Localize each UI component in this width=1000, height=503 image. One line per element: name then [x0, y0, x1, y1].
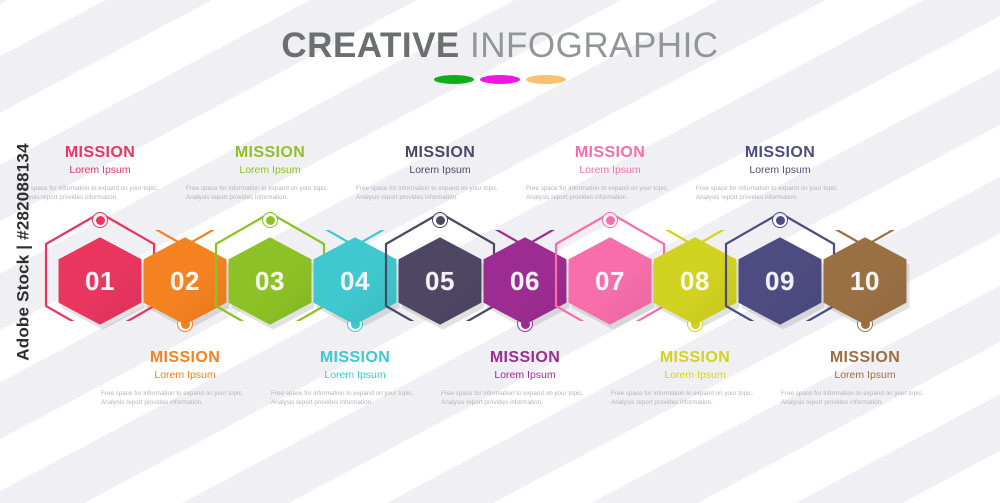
- step-connector-dot: [262, 212, 278, 228]
- title-light: INFOGRAPHIC: [470, 26, 719, 65]
- mission-description-line-2: Analysis report provides information.: [271, 399, 439, 408]
- dot-tan: [526, 75, 566, 84]
- mission-block-03: MISSIONLorem IpsumFree space for informa…: [186, 143, 354, 202]
- mission-title: MISSION: [186, 143, 354, 162]
- mission-description-line-1: Free space for information to expand on …: [271, 390, 439, 399]
- mission-title: MISSION: [526, 143, 694, 162]
- mission-description: Free space for information to expand on …: [611, 390, 779, 407]
- mission-title: MISSION: [781, 348, 949, 367]
- mission-subtitle: Lorem Ipsum: [356, 163, 524, 178]
- hexagon-number-label: 08: [680, 266, 710, 297]
- title-decoration-dots: [0, 75, 1000, 84]
- mission-subtitle: Lorem Ipsum: [186, 163, 354, 178]
- hexagon-number-label: 02: [170, 266, 200, 297]
- mission-block-08: MISSIONLorem IpsumFree space for informa…: [611, 348, 779, 407]
- step-connector-dot-core: [96, 216, 105, 225]
- title-line: CREATIVE INFOGRAPHIC: [0, 26, 1000, 66]
- mission-block-05: MISSIONLorem IpsumFree space for informa…: [356, 143, 524, 202]
- step-connector-dot: [772, 212, 788, 228]
- mission-block-07: MISSIONLorem IpsumFree space for informa…: [526, 143, 694, 202]
- hexagon-number-label: 04: [340, 266, 370, 297]
- hexagon-number-label: 01: [85, 266, 115, 297]
- mission-title: MISSION: [356, 143, 524, 162]
- step-connector-dot-core: [776, 216, 785, 225]
- hexagon-number-label: 07: [595, 266, 625, 297]
- mission-subtitle: Lorem Ipsum: [101, 368, 269, 383]
- mission-subtitle: Lorem Ipsum: [781, 368, 949, 383]
- mission-description-line-1: Free space for information to expand on …: [101, 390, 269, 399]
- hexagon-number-label: 03: [255, 266, 285, 297]
- mission-description-line-1: Free space for information to expand on …: [781, 390, 949, 399]
- mission-description-line-2: Analysis report provides information.: [696, 194, 864, 203]
- mission-description: Free space for information to expand on …: [186, 185, 354, 202]
- mission-title: MISSION: [101, 348, 269, 367]
- mission-description: Free space for information to expand on …: [696, 185, 864, 202]
- mission-description-line-2: Analysis report provides information.: [611, 399, 779, 408]
- mission-description: Free space for information to expand on …: [356, 185, 524, 202]
- mission-block-09: MISSIONLorem IpsumFree space for informa…: [696, 143, 864, 202]
- mission-description-line-1: Free space for information to expand on …: [696, 185, 864, 194]
- mission-description-line-1: Free space for information to expand on …: [611, 390, 779, 399]
- mission-subtitle: Lorem Ipsum: [271, 368, 439, 383]
- hexagon-number-label: 10: [850, 266, 880, 297]
- title-strong: CREATIVE: [281, 26, 459, 65]
- adobe-stock-watermark: Adobe Stock | #282088134: [4, 0, 44, 503]
- mission-description-line-2: Analysis report provides information.: [356, 194, 524, 203]
- mission-block-04: MISSIONLorem IpsumFree space for informa…: [271, 348, 439, 407]
- mission-subtitle: Lorem Ipsum: [526, 163, 694, 178]
- step-connector-dot-core: [266, 216, 275, 225]
- step-connector-dot: [92, 212, 108, 228]
- hexagon-step-row: 01 02 03 04 05 06 07 08: [55, 203, 955, 348]
- mission-description: Free space for information to expand on …: [271, 390, 439, 407]
- step-connector-dot-core: [436, 216, 445, 225]
- mission-description-line-2: Analysis report provides information.: [526, 194, 694, 203]
- adobe-stock-watermark-label: Adobe Stock | #282088134: [14, 143, 34, 360]
- mission-title: MISSION: [271, 348, 439, 367]
- mission-title: MISSION: [441, 348, 609, 367]
- mission-description-line-2: Analysis report provides information.: [441, 399, 609, 408]
- mission-description: Free space for information to expand on …: [526, 185, 694, 202]
- mission-description: Free space for information to expand on …: [101, 390, 269, 407]
- hexagon-step-10[interactable]: 10: [820, 203, 910, 348]
- mission-block-10: MISSIONLorem IpsumFree space for informa…: [781, 348, 949, 407]
- mission-block-02: MISSIONLorem IpsumFree space for informa…: [101, 348, 269, 407]
- mission-subtitle: Lorem Ipsum: [611, 368, 779, 383]
- step-connector-dot: [432, 212, 448, 228]
- mission-description-line-2: Analysis report provides information.: [186, 194, 354, 203]
- mission-block-06: MISSIONLorem IpsumFree space for informa…: [441, 348, 609, 407]
- dot-green: [434, 75, 474, 84]
- hexagon-number-label: 05: [425, 266, 455, 297]
- mission-description-line-1: Free space for information to expand on …: [441, 390, 609, 399]
- step-connector-dot-core: [606, 216, 615, 225]
- mission-description-line-1: Free space for information to expand on …: [356, 185, 524, 194]
- hexagon-number-label: 09: [765, 266, 795, 297]
- mission-subtitle: Lorem Ipsum: [441, 368, 609, 383]
- mission-title: MISSION: [611, 348, 779, 367]
- page-title: CREATIVE INFOGRAPHIC: [0, 26, 1000, 84]
- mission-title: MISSION: [696, 143, 864, 162]
- infographic-canvas: Adobe Stock | #282088134 CREATIVE INFOGR…: [0, 0, 1000, 503]
- mission-subtitle: Lorem Ipsum: [696, 163, 864, 178]
- step-connector-dot: [602, 212, 618, 228]
- mission-description-line-1: Free space for information to expand on …: [186, 185, 354, 194]
- mission-description-line-1: Free space for information to expand on …: [526, 185, 694, 194]
- mission-description-line-2: Analysis report provides information.: [101, 399, 269, 408]
- mission-description: Free space for information to expand on …: [441, 390, 609, 407]
- dot-magenta: [480, 75, 520, 84]
- hexagon-number-label: 06: [510, 266, 540, 297]
- mission-description: Free space for information to expand on …: [781, 390, 949, 407]
- mission-description-line-2: Analysis report provides information.: [781, 399, 949, 408]
